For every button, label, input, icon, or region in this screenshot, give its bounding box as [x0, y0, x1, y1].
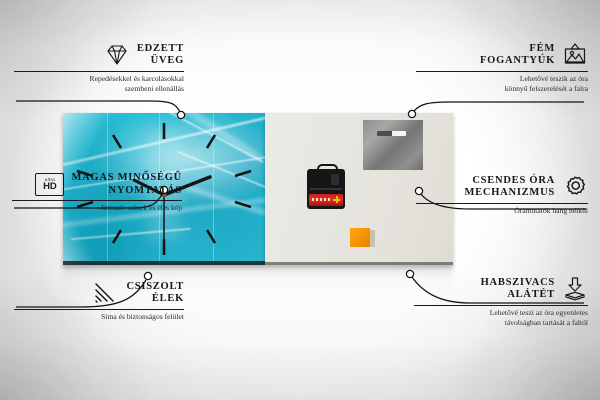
mechanism-switch [331, 174, 339, 185]
feature-description: Sima és biztonságos felület [14, 312, 184, 322]
mechanism-ridge [310, 188, 342, 190]
infographic-canvas: EDZETT ÜVEG Repedésekkel és karcolásokka… [0, 0, 600, 400]
front-panel-bottom-edge [63, 261, 265, 265]
picture-frame-hanger-icon [562, 42, 588, 68]
feature-rule [416, 71, 588, 72]
foam-pad-part [350, 228, 370, 247]
feature-description: Lehetővé teszik az óra könnyű felszerelé… [416, 74, 588, 94]
mechanism-loop [317, 164, 338, 174]
foam-pad-arrow-icon [562, 276, 588, 302]
polished-edges-icon [93, 280, 119, 306]
feature-polished-edges[interactable]: CSISZOLT ÉLEK Sima és biztonságos felüle… [14, 280, 184, 322]
feature-rule [414, 305, 588, 306]
metal-hanger-part [363, 120, 423, 170]
feature-title: HABSZIVACS ALÁTÉT [481, 277, 555, 302]
feature-title: CSISZOLT ÉLEK [126, 281, 184, 306]
feature-foam-spacer[interactable]: HABSZIVACS ALÁTÉT Lehetővé teszi az óra … [414, 276, 588, 328]
feature-title: EDZETT ÜVEG [137, 43, 184, 68]
ultra-hd-main-label: HD [43, 182, 57, 192]
feature-rule [14, 71, 184, 72]
foam-pad-shadow [370, 230, 375, 247]
feature-rule [416, 203, 588, 204]
feature-high-quality-print[interactable]: ultra HD MAGAS MINŐSÉGŰ NYOMTATÁS Intenz… [12, 172, 182, 213]
feature-rule [14, 309, 184, 310]
ultra-hd-icon: ultra HD [35, 173, 64, 196]
feature-description: Intenzív színek és éles kép [12, 203, 182, 213]
feature-description: Lehetővé teszi az óra egyenletes távolsá… [414, 308, 588, 328]
feature-title: FÉM FOGANTYÚK [480, 43, 555, 68]
battery-label [312, 198, 332, 201]
battery-plus-icon [333, 196, 340, 203]
gear-icon [562, 174, 588, 200]
battery-part [309, 194, 343, 206]
feature-description: Repedésekkel és karcolásokkal szembeni e… [14, 74, 184, 94]
feature-title: MAGAS MINŐSÉGŰ NYOMTATÁS [71, 172, 182, 197]
back-panel-bottom-edge [265, 262, 453, 265]
feature-rule [12, 200, 182, 201]
feature-tempered-glass[interactable]: EDZETT ÜVEG Repedésekkel és karcolásokka… [14, 42, 184, 94]
hanger-slot [377, 131, 406, 136]
clock-mechanism-part [307, 169, 345, 209]
diamond-icon [104, 42, 130, 68]
feature-metal-handles[interactable]: FÉM FOGANTYÚK Lehetővé teszik az óra kön… [416, 42, 588, 94]
feature-description: Óramutatók hang nélkül [416, 206, 588, 216]
feature-title: CSENDES ÓRA MECHANIZMUS [464, 175, 555, 200]
feature-silent-mechanism[interactable]: CSENDES ÓRA MECHANIZMUS Óramutatók hang … [416, 174, 588, 216]
